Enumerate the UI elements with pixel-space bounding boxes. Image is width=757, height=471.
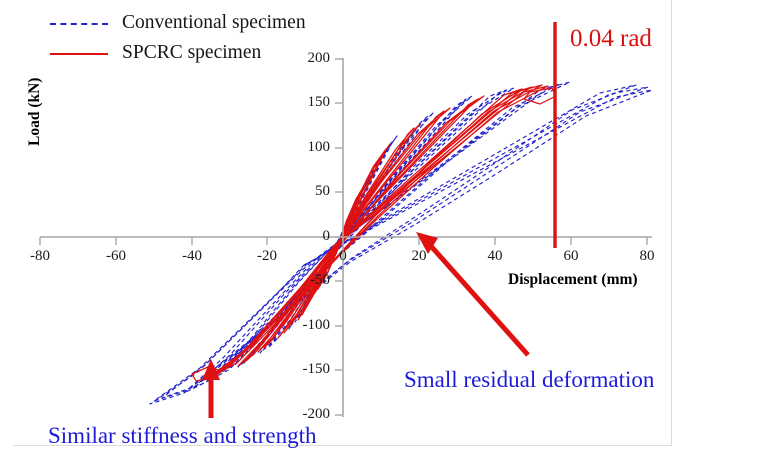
x-tick-40: 40 <box>473 248 517 265</box>
y-tick-100: 100 <box>286 139 330 156</box>
x-axis-title: Displacement (mm) <box>508 271 638 289</box>
y-tick-50: 50 <box>286 183 330 200</box>
y-tick-200: 200 <box>286 50 330 67</box>
x-tick-0: 0 <box>321 248 365 265</box>
y-tick-neg150: -150 <box>286 361 330 378</box>
series-conventional-specimen <box>150 82 652 404</box>
plot-area: 200 150 100 50 0 -50 -100 -150 -200 -80 … <box>0 0 757 471</box>
y-tick-neg50: -50 <box>286 272 330 289</box>
plot-canvas <box>0 0 757 471</box>
annotation-drift-limit: 0.04 rad <box>570 25 652 53</box>
annotation-small-residual: Small residual deformation <box>404 367 654 393</box>
x-tick-neg20: -20 <box>245 248 289 265</box>
x-tick-60: 60 <box>549 248 593 265</box>
series-spcrc-specimen <box>192 85 556 381</box>
x-tick-80: 80 <box>625 248 669 265</box>
x-tick-neg60: -60 <box>94 248 138 265</box>
x-tick-neg80: -80 <box>18 248 62 265</box>
y-tick-0: 0 <box>286 228 330 245</box>
hysteresis-curves <box>150 82 652 404</box>
chart-figure: Conventional specimen SPCRC specimen <box>0 0 757 471</box>
x-tick-neg40: -40 <box>170 248 214 265</box>
y-tick-neg200: -200 <box>286 406 330 423</box>
y-tick-150: 150 <box>286 94 330 111</box>
x-tick-20: 20 <box>397 248 441 265</box>
y-tick-neg100: -100 <box>286 317 330 334</box>
y-axis-title: Load (kN) <box>26 78 44 146</box>
annotation-similar-stiffness: Similar stiffness and strength <box>48 423 317 449</box>
axis-lines <box>40 58 652 417</box>
